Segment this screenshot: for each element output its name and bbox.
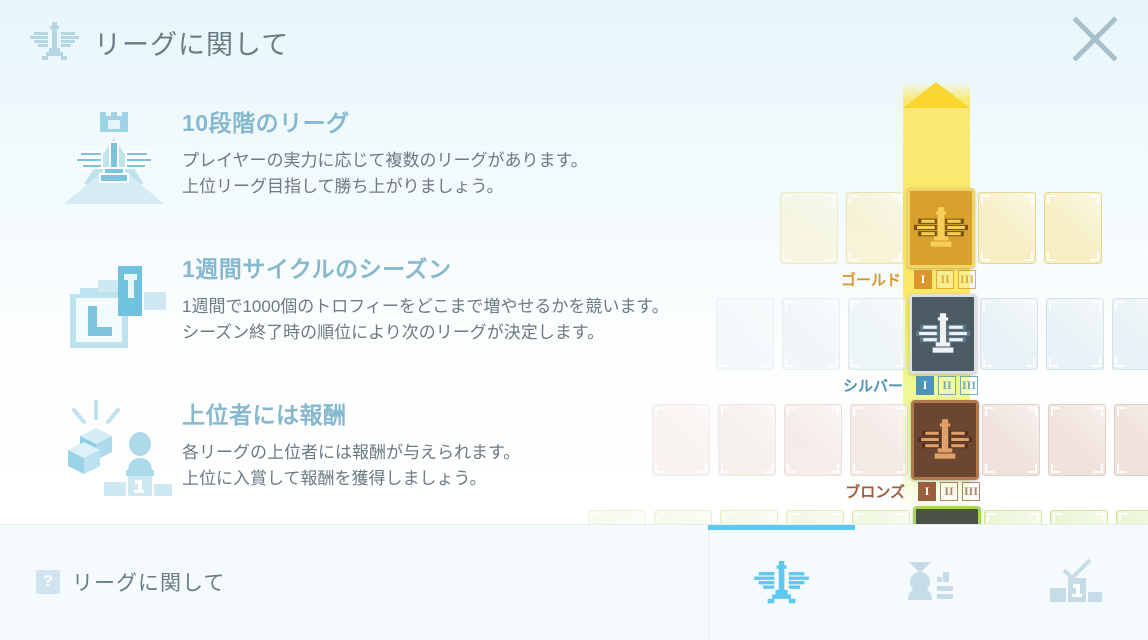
league-tile xyxy=(978,192,1036,264)
feature-line: 1週間で1000個のトロフィーをどこまで増やせるかを競います。 xyxy=(182,294,669,320)
league-tile xyxy=(588,510,646,524)
footer-tabs xyxy=(708,525,1148,640)
feature-text: 1週間サイクルのシーズン 1週間で1000個のトロフィーをどこまで増やせるかを競… xyxy=(182,250,669,346)
feature-item: 上位者には報酬 各リーグの上位者には報酬が与えられます。 上位に入賞して報酬を獲… xyxy=(56,396,520,500)
league-tile xyxy=(1044,192,1102,264)
dialog-header: リーグに関して xyxy=(0,0,1148,82)
feature-item: 10段階のリーグ プレイヤーの実力に応じて複数のリーグがあります。 上位リーグ目… xyxy=(56,104,588,208)
promotion-arrow-icon xyxy=(903,82,970,108)
league-rank-label: シルバーIIIIII xyxy=(732,374,978,396)
feature-line: 各リーグの上位者には報酬が与えられます。 xyxy=(182,440,520,466)
footer-title: リーグに関して xyxy=(72,567,225,597)
tier-chip: I xyxy=(918,482,936,501)
league-tile xyxy=(720,510,778,524)
league-tile xyxy=(846,192,904,264)
tier-chip: III xyxy=(958,270,976,289)
league-tile xyxy=(1046,298,1104,370)
league-tile xyxy=(1112,298,1148,370)
current-league-badge[interactable] xyxy=(911,400,979,480)
current-league-badge[interactable] xyxy=(909,294,977,374)
league-name: ブロンズ xyxy=(845,481,905,502)
feature-title: 上位者には報酬 xyxy=(182,396,520,430)
tier-chip: III xyxy=(960,376,978,395)
league-tile xyxy=(654,510,712,524)
reward-podium-icon xyxy=(56,396,172,500)
tab-results[interactable] xyxy=(1001,525,1148,640)
league-tile xyxy=(782,298,840,370)
league-tile xyxy=(1048,404,1106,476)
feature-item: 1週間サイクルのシーズン 1週間で1000個のトロフィーをどこまで増やせるかを競… xyxy=(56,250,669,354)
league-name: ゴールド xyxy=(841,269,901,290)
feature-title: 10段階のリーグ xyxy=(182,104,588,138)
feature-line: 上位リーグ目指して勝ち上がりましょう。 xyxy=(182,174,588,200)
page-title: リーグに関して xyxy=(94,23,289,62)
current-league-badge[interactable] xyxy=(913,506,981,524)
podium-check-icon xyxy=(1046,556,1104,611)
tier-chip: III xyxy=(962,482,980,501)
league-rank-label: ブロンズIIIIII xyxy=(734,480,980,502)
dialog-body: ゴールドIIIIIIシルバーIIIIIIブロンズIIIIIIビギナー xyxy=(0,82,1148,524)
close-icon[interactable] xyxy=(1064,8,1126,70)
tier-chip: I xyxy=(916,376,934,395)
league-tile xyxy=(1050,510,1108,524)
league-tile xyxy=(850,404,908,476)
header-title-group: リーグに関して xyxy=(28,18,289,67)
footer-help-group[interactable]: ? リーグに関して xyxy=(36,567,225,597)
league-tile xyxy=(984,510,1042,524)
feature-title: 1週間サイクルのシーズン xyxy=(182,250,669,284)
league-name: シルバー xyxy=(843,375,903,396)
league-tile xyxy=(718,404,776,476)
league-tile xyxy=(780,192,838,264)
feature-line: プレイヤーの実力に応じて複数のリーグがあります。 xyxy=(182,148,588,174)
feature-text: 10段階のリーグ プレイヤーの実力に応じて複数のリーグがあります。 上位リーグ目… xyxy=(182,104,588,200)
league-tile xyxy=(784,404,842,476)
league-rank-label: ゴールドIIIIII xyxy=(730,268,976,290)
league-tile xyxy=(848,298,906,370)
tier-chips: IIIIII xyxy=(916,376,978,395)
league-info-dialog: リーグに関して ゴールドIIIIIIシルバーIIIIIIブロンズIIIIIIビギ… xyxy=(0,0,1148,640)
league-tile xyxy=(1116,510,1148,524)
question-mark-icon: ? xyxy=(36,570,60,594)
league-tile xyxy=(980,298,1038,370)
feature-line: 上位に入賞して報酬を獲得しましょう。 xyxy=(182,466,520,492)
league-tile xyxy=(786,510,844,524)
feature-line: シーズン終了時の順位により次のリーグが決定します。 xyxy=(182,320,669,346)
active-tab-underline xyxy=(708,525,855,530)
tier-chip: II xyxy=(938,376,956,395)
pyramid-tiers-icon xyxy=(56,104,172,208)
dialog-footer: ? リーグに関して xyxy=(0,524,1148,640)
weekly-calendar-icon xyxy=(56,250,172,354)
league-tile xyxy=(982,404,1040,476)
ranking-list-icon xyxy=(899,556,957,611)
tier-chip: II xyxy=(940,482,958,501)
league-tile xyxy=(652,404,710,476)
league-tile xyxy=(852,510,910,524)
tier-chip: II xyxy=(936,270,954,289)
league-emblem-icon xyxy=(28,18,80,67)
league-tile xyxy=(716,298,774,370)
league-tile-track xyxy=(588,510,1148,524)
current-league-badge[interactable] xyxy=(907,188,975,268)
league-tile-track xyxy=(652,404,1148,476)
league-tile xyxy=(1114,404,1148,476)
tab-ranking[interactable] xyxy=(855,525,1002,640)
league-emblem-icon xyxy=(752,556,810,611)
tier-chips: IIIIII xyxy=(914,270,976,289)
tab-league[interactable] xyxy=(708,525,855,640)
tier-chips: IIIIII xyxy=(918,482,980,501)
feature-text: 上位者には報酬 各リーグの上位者には報酬が与えられます。 上位に入賞して報酬を獲… xyxy=(182,396,520,492)
tier-chip: I xyxy=(914,270,932,289)
